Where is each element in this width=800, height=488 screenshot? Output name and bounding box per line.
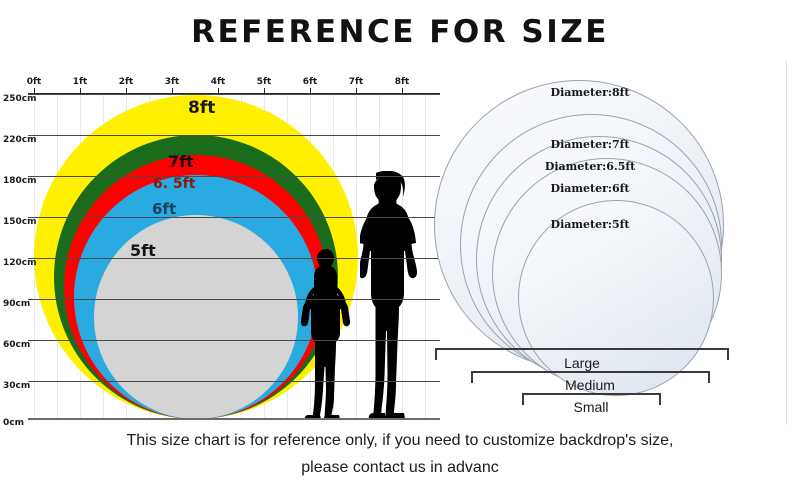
x-tick-label-2ft: 2ft [119,77,133,87]
disc-size-comparison: Diameter:8ft Diameter:7ft Diameter:6.5ft… [430,60,790,428]
y-tick-label-0cm: 0cm [3,418,24,428]
bracket-label-small: Small [573,399,608,415]
gridline-180cm [28,176,440,177]
child-silhouette [300,247,352,419]
gridline-120cm [28,258,440,259]
y-tick-label-220cm: 220cm [3,135,37,145]
x-tick-label-1ft: 1ft [73,77,87,87]
y-tick-label-250cm: 250cm [3,94,37,104]
x-tick-label-8ft: 8ft [395,77,409,87]
x-tick-label-7ft: 7ft [349,77,363,87]
y-tick-label-120cm: 120cm [3,258,37,268]
disc-label-5ft: Diameter:5ft [551,218,630,231]
ring-label-6ft: 6ft [152,200,176,218]
x-tick-label-5ft: 5ft [257,77,271,87]
plot-area: 8ft 7ft 6. 5ft 6ft 5ft [28,94,440,419]
ring-label-6-5ft: 6. 5ft [153,176,195,192]
disc-label-6ft: Diameter:6ft [551,182,630,195]
size-reference-chart: REFERENCE FOR SIZE 0ft 1ft 2ft 3ft 4ft 5… [0,0,800,488]
gridline-220cm [28,135,440,136]
ring-5ft [94,215,298,419]
height-reference-chart: 0ft 1ft 2ft 3ft 4ft 5ft 6ft 7ft 8ft [0,60,440,428]
x-tick-label-4ft: 4ft [211,77,225,87]
gridline-250cm [28,94,440,95]
gridline-150cm [28,217,440,218]
ring-label-7ft: 7ft [168,152,194,171]
y-tick-label-180cm: 180cm [3,176,37,186]
gridline-60cm [28,340,440,341]
y-tick-label-30cm: 30cm [3,381,30,391]
x-tick-label-0ft: 0ft [27,77,41,87]
caption-line-1: This size chart is for reference only, i… [0,432,800,450]
disc-label-6-5ft: Diameter:6.5ft [545,160,635,173]
disc-label-7ft: Diameter:7ft [551,138,630,151]
gridline-90cm [28,299,440,300]
y-tick-label-150cm: 150cm [3,217,37,227]
y-tick-label-90cm: 90cm [3,299,30,309]
caption-line-2: please contact us in advanc [0,459,800,477]
y-tick-label-60cm: 60cm [3,340,30,350]
gridline-30cm [28,381,440,382]
page-title: REFERENCE FOR SIZE [0,14,800,50]
disc-label-8ft: Diameter:8ft [551,86,630,99]
bracket-label-medium: Medium [565,377,615,393]
x-tick-label-3ft: 3ft [165,77,179,87]
x-tick-label-6ft: 6ft [303,77,317,87]
gridline-0cm [28,418,440,420]
bracket-label-large: Large [564,355,600,371]
ring-label-8ft: 8ft [188,98,215,118]
